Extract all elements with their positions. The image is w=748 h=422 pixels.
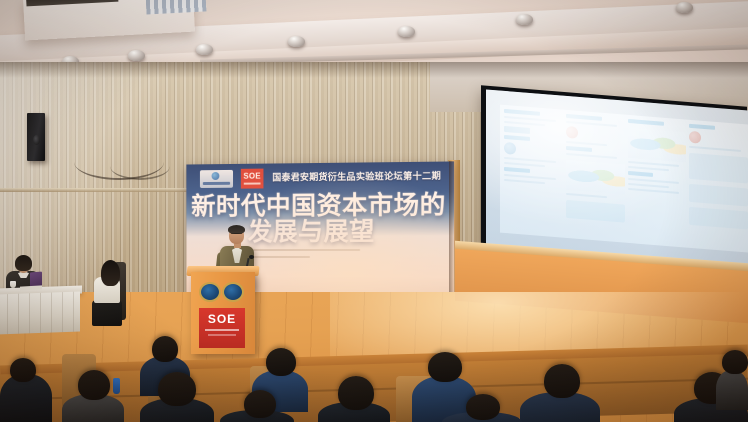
emblem-ring-left — [199, 282, 221, 302]
slide-heading — [504, 167, 530, 173]
slide-heading — [628, 171, 654, 177]
speaker-cone — [33, 135, 40, 145]
seated-person-right-legs — [92, 300, 122, 326]
table-skirt-pleats — [0, 292, 80, 335]
slide-heading — [628, 119, 664, 126]
ceiling-spotlight — [398, 26, 415, 37]
logo-globe-icon — [212, 172, 220, 180]
audience-shoulders — [716, 370, 748, 410]
water-bottle — [113, 378, 120, 394]
slide-icon — [566, 126, 578, 139]
banner-fine-print — [231, 249, 442, 275]
ceiling-spotlight — [196, 44, 213, 55]
slide-block — [689, 184, 748, 207]
podium-emblem — [199, 282, 245, 302]
slide-block — [689, 153, 748, 184]
slide-icon — [689, 131, 701, 144]
ceiling-spotlight — [128, 50, 145, 61]
banner-title-line1: 新时代中国资本市场的 — [191, 191, 446, 221]
audience-head — [722, 350, 748, 374]
slide-heading — [504, 135, 530, 141]
slide-heading — [689, 124, 715, 130]
slide-text-line — [566, 193, 607, 198]
slide-column — [689, 124, 748, 249]
slide-heading — [566, 114, 602, 121]
slide-column — [504, 109, 563, 234]
slide-icon — [504, 142, 516, 155]
audience-row — [0, 336, 748, 422]
soe-logo-label: SOE — [243, 173, 260, 181]
seated-person-right-hair — [101, 260, 120, 286]
university-logo — [200, 170, 233, 188]
audience-head — [78, 370, 110, 400]
audience-head — [152, 336, 178, 362]
audience-head — [428, 352, 462, 382]
microphone-head-icon — [249, 255, 254, 259]
slide-text-line — [504, 179, 545, 184]
slide-block — [566, 200, 625, 223]
registration-table-skirt — [0, 292, 80, 335]
paper-cup — [10, 281, 16, 288]
wall-top-shadow — [0, 62, 748, 78]
slide-text-line — [566, 153, 618, 159]
audience-head — [244, 390, 276, 418]
slide-text-line — [628, 188, 680, 194]
slide-column — [566, 114, 625, 239]
slide-column — [628, 119, 687, 244]
audience-head — [10, 358, 36, 382]
wall-mounted-speaker — [27, 113, 45, 161]
audience-head — [338, 376, 374, 410]
banner-subheading: 国泰君安期货衍生品实验班论坛第十二期 — [272, 170, 441, 185]
seated-person-left-hair — [15, 255, 32, 271]
banner-fine-print-line — [248, 249, 361, 251]
ceiling-spotlight — [676, 2, 693, 13]
slide-heading — [504, 109, 540, 116]
slide-text-line — [689, 146, 741, 152]
slide-chip — [504, 126, 530, 134]
conference-photo: SOE 国泰君安期货衍生品实验班论坛第十二期 新时代中国资本市场的 发展与展望 … — [0, 0, 748, 422]
audience-head — [266, 348, 296, 376]
projection-screen — [486, 89, 748, 268]
slide-diagram — [628, 128, 687, 163]
banner-title-line2: 发展与展望 — [248, 218, 449, 245]
slide-block — [689, 207, 748, 230]
slide-diagram — [566, 160, 625, 195]
logo-wordmark — [203, 182, 230, 185]
audience-head — [158, 372, 196, 406]
soe-logo-rule — [244, 183, 261, 185]
podium-plate-label: SOE — [208, 313, 236, 326]
emblem-ring-right — [222, 282, 244, 302]
slide-heading — [566, 146, 592, 152]
podium-plate-rule — [205, 329, 239, 331]
slide-content — [500, 105, 748, 253]
ceiling-spotlight — [516, 14, 533, 25]
soe-logo: SOE — [241, 169, 264, 189]
audience-head — [466, 394, 500, 420]
audience-head — [544, 364, 580, 398]
ceiling-spotlight — [288, 36, 305, 47]
glasses-icon — [231, 233, 242, 237]
